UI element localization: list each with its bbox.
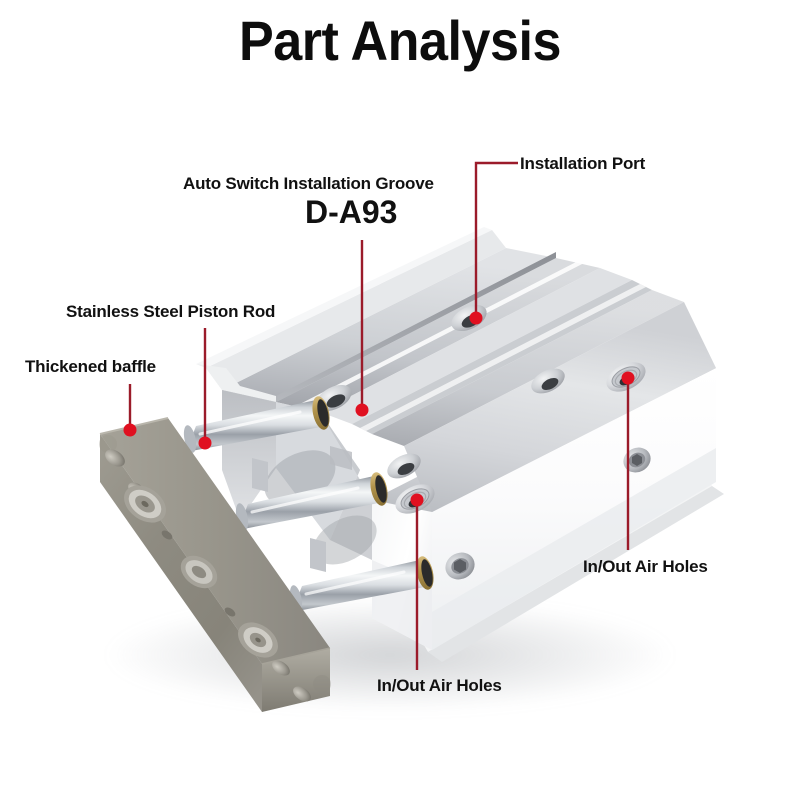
part-analysis-diagram: Part Analysis — [0, 0, 800, 800]
callout-label-installation-port: Installation Port — [520, 155, 645, 173]
callout-sublabel-d-a93: D-A93 — [305, 196, 397, 230]
callout-label-air-holes-right: In/Out Air Holes — [583, 558, 708, 576]
callout-label-stainless-steel-piston-rod: Stainless Steel Piston Rod — [66, 303, 275, 321]
callout-label-air-holes-bottom: In/Out Air Holes — [377, 677, 502, 695]
callout-label-thickened-baffle: Thickened baffle — [25, 358, 156, 376]
callout-label-auto-switch-groove: Auto Switch Installation Groove — [183, 175, 434, 193]
